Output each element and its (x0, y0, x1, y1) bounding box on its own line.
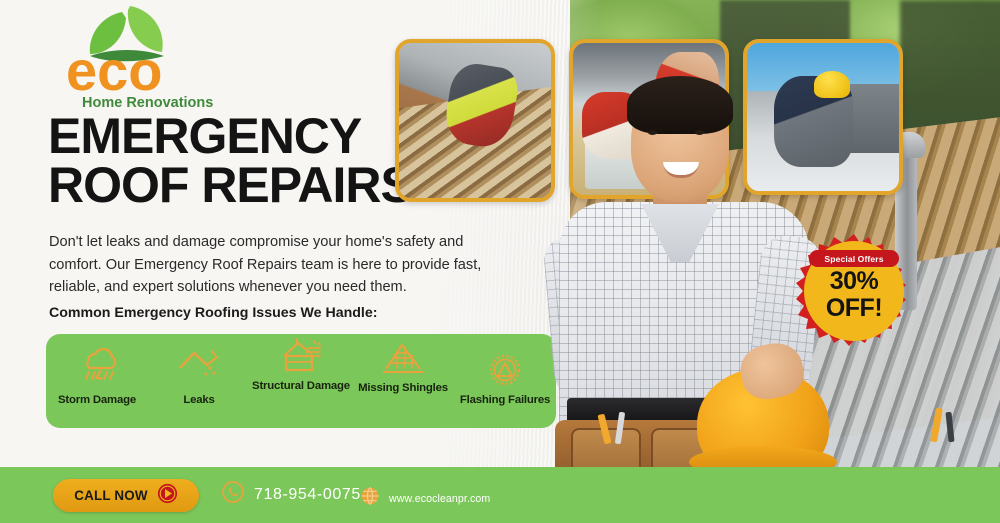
special-offer-badge[interactable]: Special Offers 30% OFF! (795, 232, 913, 350)
emergency-roof-repairs-banner: eco Home Renovations EMERGENCY ROOF REPA… (0, 0, 1000, 523)
feature-structural-damage[interactable]: Structural Damage (250, 334, 352, 393)
hero-eye-left (648, 130, 657, 135)
phone-icon (222, 481, 244, 508)
feature-leaks[interactable]: Leaks (148, 334, 250, 407)
shingle-roof-icon (378, 338, 428, 378)
feature-label: Flashing Failures (460, 394, 550, 407)
call-now-button[interactable]: CALL NOW (53, 479, 199, 512)
eco-logo-svg: eco Home Renovations (60, 4, 245, 112)
hero-hair (627, 76, 733, 134)
special-offers-ribbon: Special Offers (809, 250, 899, 267)
play-arrow-circle-icon (157, 483, 178, 509)
globe-icon (360, 486, 380, 511)
website-url: www.ecocleanpr.com (389, 493, 490, 505)
feature-label: Leaks (183, 394, 214, 407)
feature-flashing-failures[interactable]: Flashing Failures (454, 334, 556, 407)
hero-eye-right (695, 130, 704, 135)
thumbnail-roofer-installing-tiles[interactable] (395, 39, 555, 202)
common-issues-panel: Storm Damage Leaks (46, 334, 556, 428)
feature-missing-shingles[interactable]: Missing Shingles (352, 334, 454, 395)
feature-label: Storm Damage (58, 394, 136, 407)
logo-wordmark: eco (66, 39, 163, 102)
brand-logo[interactable]: eco Home Renovations (60, 4, 245, 112)
issues-subheading: Common Emergency Roofing Issues We Handl… (49, 305, 519, 321)
discount-percent: 30% (795, 268, 913, 295)
damaged-house-icon (278, 336, 324, 376)
feature-storm-damage[interactable]: Storm Damage (46, 334, 148, 407)
feature-label: Missing Shingles (358, 382, 448, 395)
footer-contact-bar: CALL NOW 718-954-0075 (0, 467, 1000, 523)
feature-label: Structural Damage (252, 380, 350, 393)
discount-off-label: OFF! (795, 295, 913, 322)
website-contact[interactable]: www.ecocleanpr.com (360, 486, 490, 511)
phone-contact[interactable]: 718-954-0075 (222, 481, 361, 508)
warning-seal-icon (486, 350, 524, 390)
discount-amount: 30% OFF! (795, 268, 913, 321)
phone-number: 718-954-0075 (254, 486, 361, 504)
storm-cloud-rain-icon (76, 342, 118, 382)
body-paragraph: Don't let leaks and damage compromise yo… (49, 231, 519, 299)
call-now-label: CALL NOW (74, 488, 148, 503)
roof-leak-drip-icon (177, 342, 221, 382)
